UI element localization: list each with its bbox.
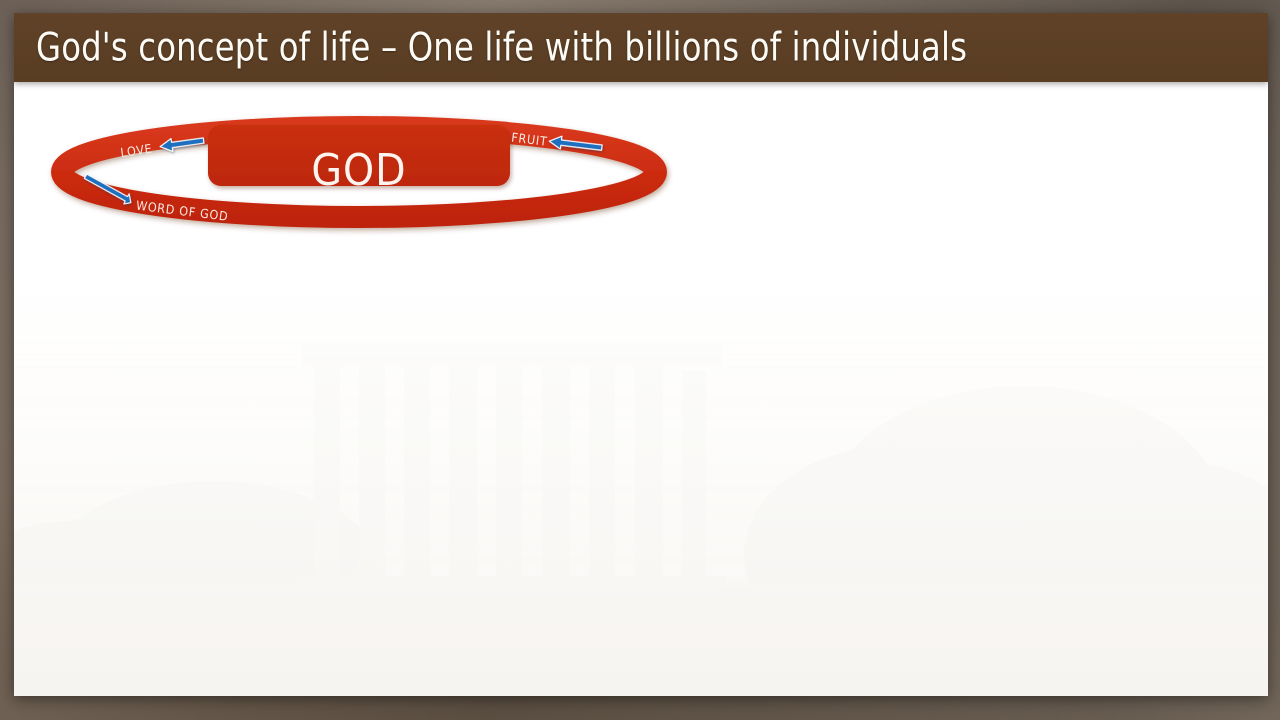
presentation-slide: God's concept of life – One life with bi… [14,13,1268,696]
slide-frame: God's concept of life – One life with bi… [0,0,1280,720]
page-title: God's concept of life – One life with bi… [36,25,967,70]
slide-title-bar: God's concept of life – One life with bi… [14,13,1268,82]
ring-label-love-text: LOVE [119,141,153,160]
background-photo [14,216,1268,696]
god-box-label: GOD [311,145,406,196]
cycle-of-life-diagram[interactable]: GOD LOVE FRUIT [24,98,704,243]
ring-label-fruit-text: FRUIT [511,130,549,149]
